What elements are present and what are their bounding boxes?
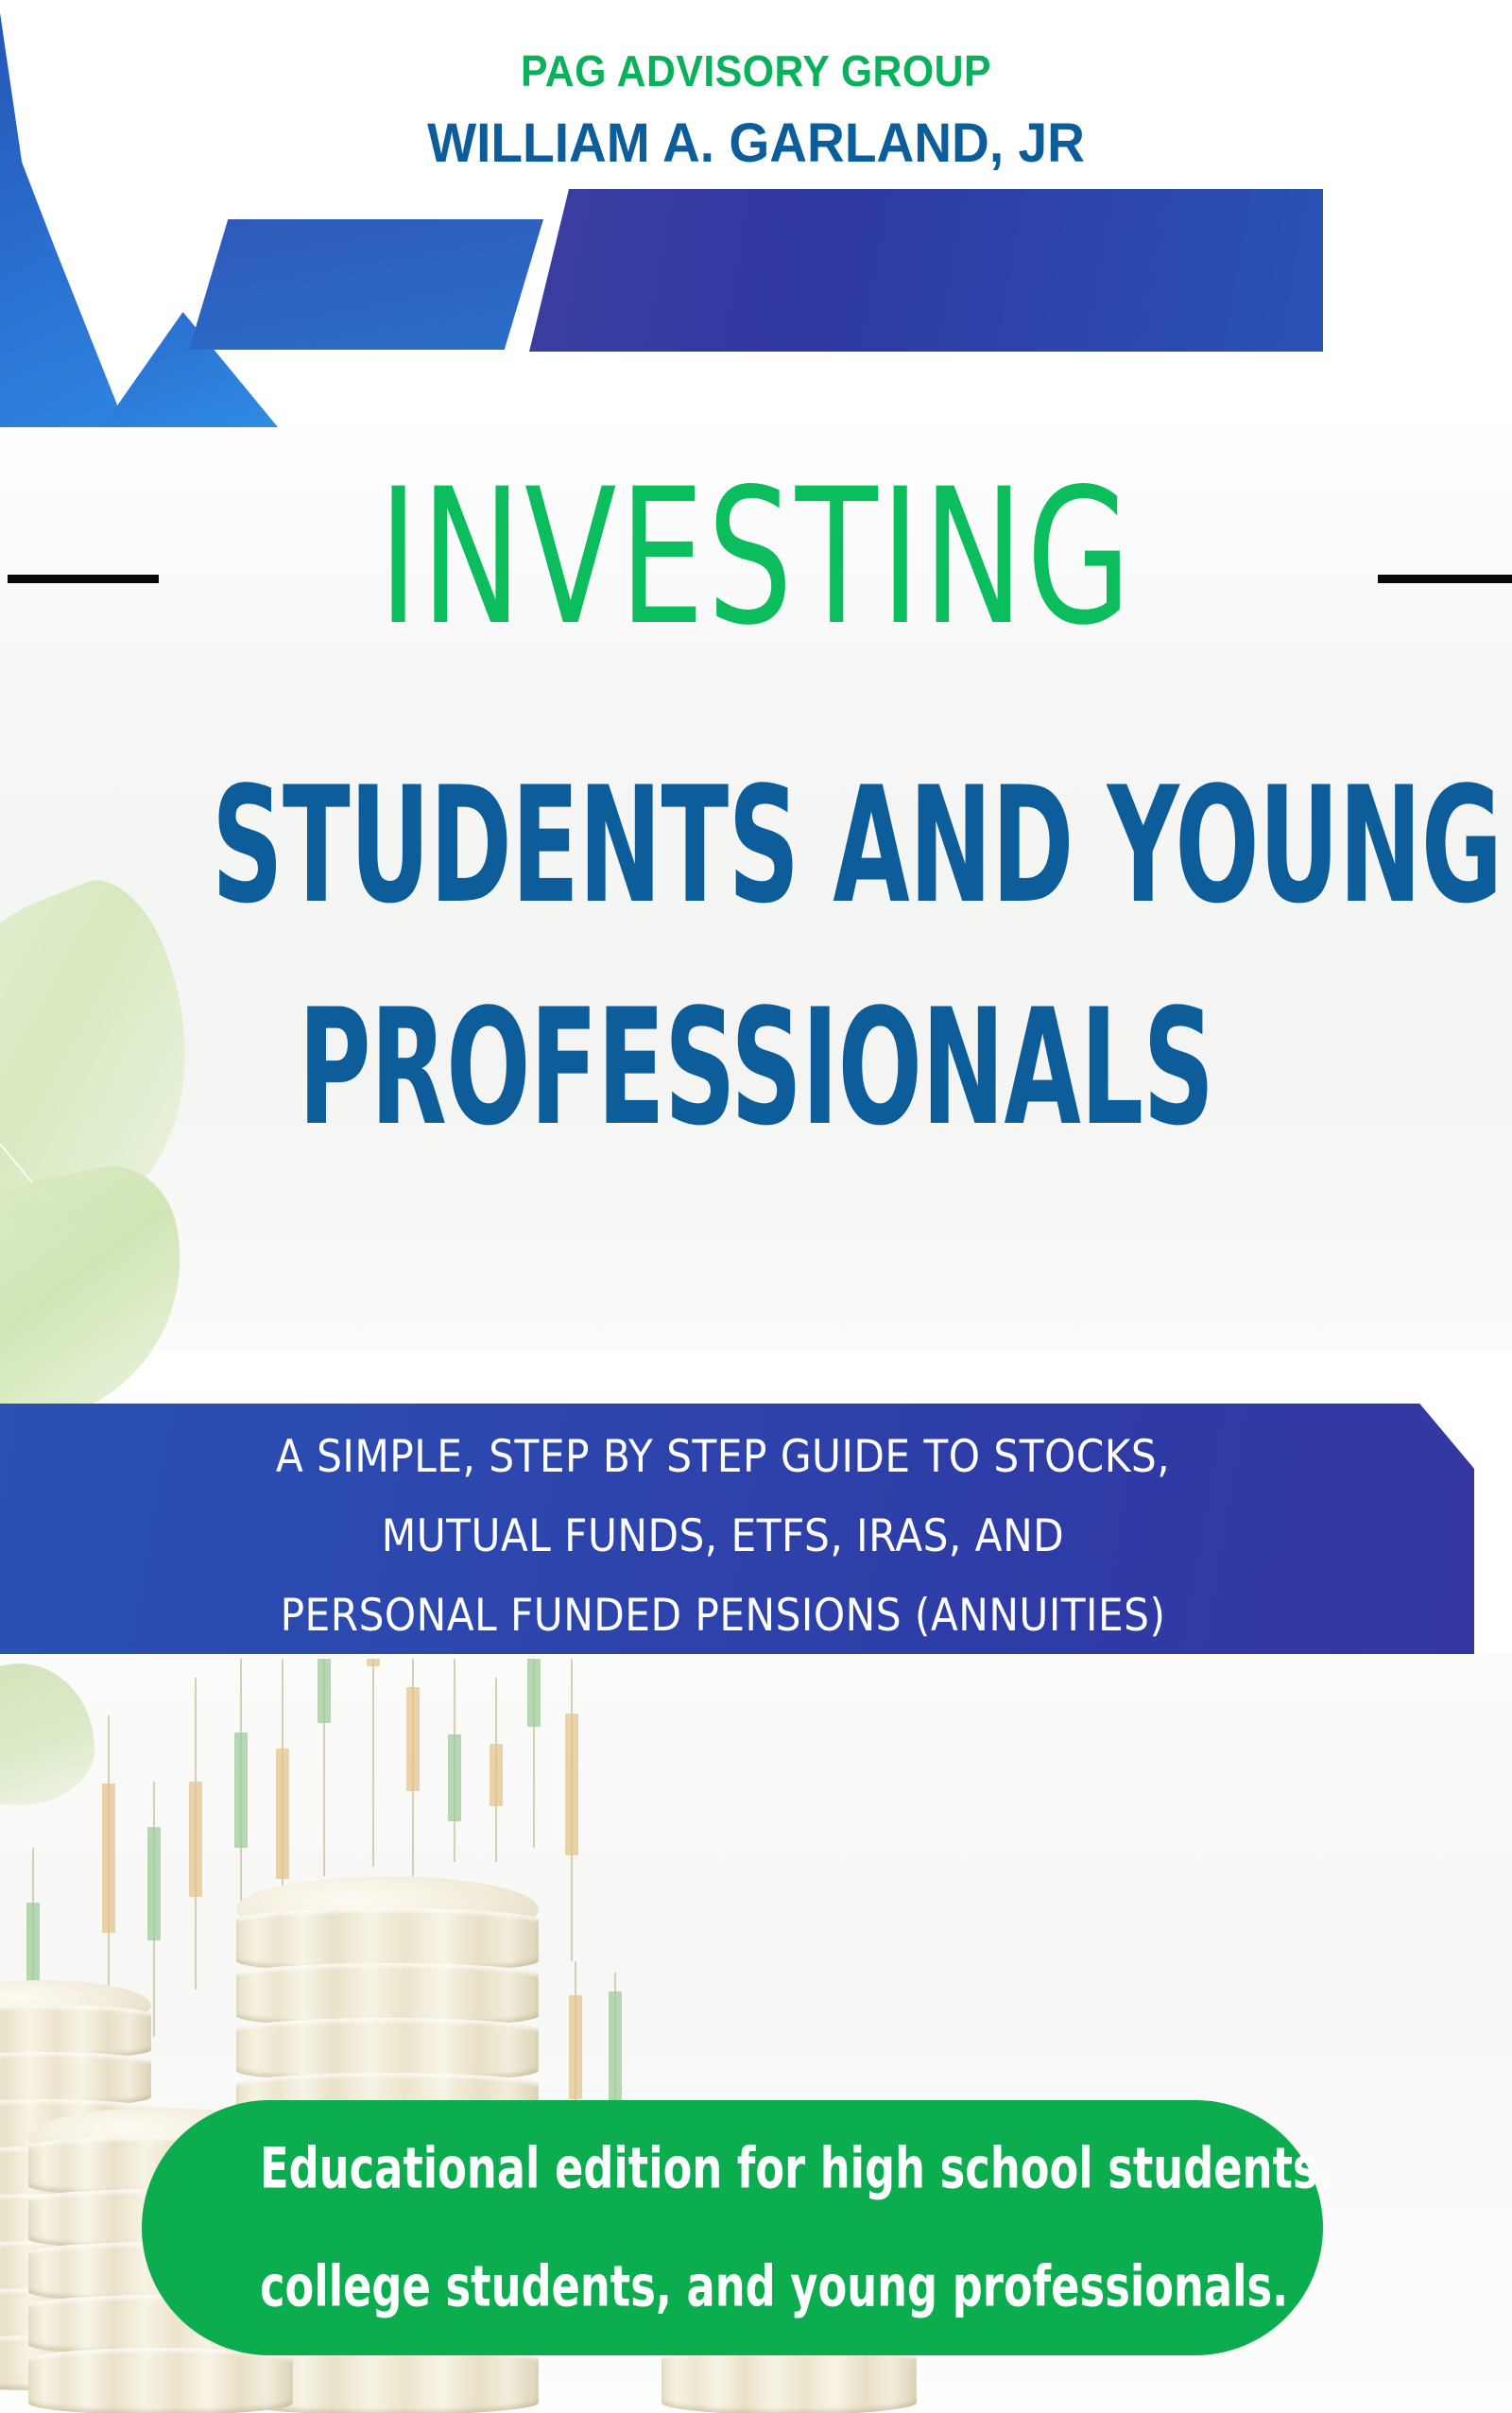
subtitle-text: A SIMPLE, STEP BY STEP GUIDE TO STOCKS, … [73,1418,1374,1656]
subtitle-line-3: PERSONAL FUNDED PENSIONS (ANNUITIES) [73,1577,1374,1656]
rule-right-divider [1378,575,1512,583]
book-title-line-1: STUDENTS AND YOUNG [212,764,1300,928]
coin-icon [28,2348,293,2413]
subtitle-line-1: A SIMPLE, STEP BY STEP GUIDE TO STOCKS, [73,1418,1374,1497]
publisher-name: PAG ADVISORY GROUP [53,45,1459,96]
subtitle-line-2: MUTUAL FUNDS, ETFS, IRAS, AND [73,1497,1374,1577]
edition-badge-line-1: Educational edition for high school stud… [260,2111,1205,2229]
eyebrow-title: INVESTING [212,463,1300,652]
edition-badge-text: Educational edition for high school stud… [260,2111,1205,2347]
author-name: WILLIAM A. GARLAND, JR [38,112,1474,175]
rule-left-divider [8,575,159,583]
edition-badge-line-2: college students, and young professional… [260,2229,1205,2347]
angled-bar-shape-icon [529,189,1323,352]
eyebrow-row: INVESTING [0,463,1512,671]
parallelogram-shape-icon [189,219,543,350]
book-title-line-2: PROFESSIONALS [212,986,1300,1150]
coin-icon [661,2346,917,2413]
book-cover: PAG ADVISORY GROUP WILLIAM A. GARLAND, J… [0,0,1512,2413]
